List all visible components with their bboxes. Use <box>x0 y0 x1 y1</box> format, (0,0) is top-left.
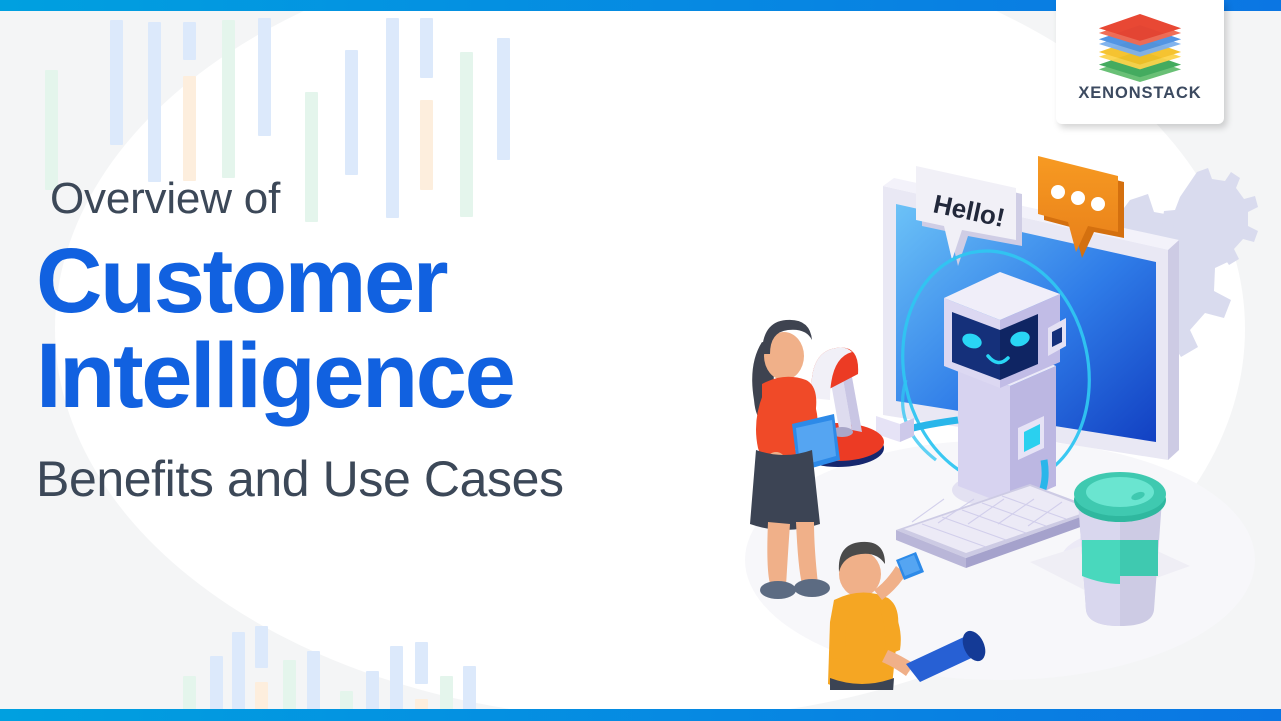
woman-skirt <box>750 450 820 530</box>
decor-bar <box>255 626 268 668</box>
decor-bar <box>390 646 403 716</box>
title-line-2: Intelligence <box>36 324 756 430</box>
coffee-cup <box>1074 472 1166 626</box>
decor-bar <box>283 660 296 716</box>
slide-canvas: Overview of Customer Intelligence Benefi… <box>0 0 1281 721</box>
decor-bar <box>415 642 428 684</box>
decor-bar <box>258 18 271 136</box>
decor-bar <box>420 18 433 78</box>
title-line-1: Customer <box>36 230 446 332</box>
chat-dot <box>1091 197 1105 211</box>
decor-bar <box>307 651 320 716</box>
decor-bar <box>110 20 123 145</box>
decor-bar <box>183 22 196 60</box>
brand-name: XENONSTACK <box>1078 84 1201 103</box>
accent-bar-bottom <box>0 709 1281 721</box>
woman-shoe-right <box>794 579 830 597</box>
page-title: Customer Intelligence <box>36 229 756 431</box>
headline-block: Overview of Customer Intelligence Benefi… <box>36 176 756 507</box>
decor-bar <box>345 50 358 175</box>
decor-bar <box>222 20 235 178</box>
overline-text: Overview of <box>36 176 756 223</box>
woman-shoe-left <box>760 581 796 599</box>
chat-dot <box>1051 185 1065 199</box>
decor-bars-top <box>0 10 900 140</box>
subtitle-text: Benefits and Use Cases <box>36 452 756 507</box>
decor-bars-bottom <box>150 594 570 709</box>
chatbot-scene-svg: Hello! <box>700 130 1270 690</box>
decor-bar <box>183 76 196 181</box>
decor-bar <box>148 22 161 182</box>
brand-logo-card[interactable]: XENONSTACK <box>1056 0 1224 124</box>
decor-bar <box>497 38 510 160</box>
chat-dot <box>1071 191 1085 205</box>
decor-bar <box>210 656 223 716</box>
stacked-layers-logo-icon <box>1092 14 1188 82</box>
hero-illustration: Hello! <box>700 130 1270 690</box>
decor-bar <box>232 632 245 716</box>
decor-bar <box>45 70 58 190</box>
